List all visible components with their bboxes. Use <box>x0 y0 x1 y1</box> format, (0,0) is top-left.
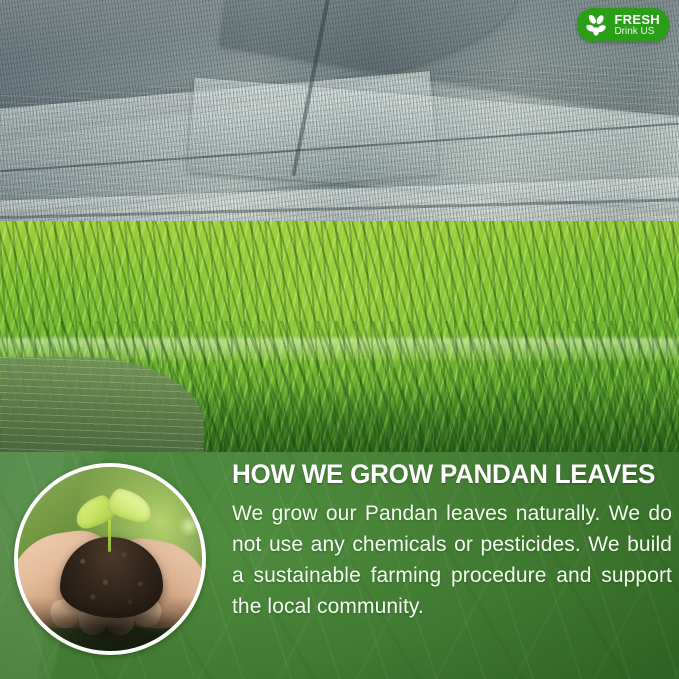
bokeh-light <box>178 515 200 537</box>
hands-holding-seedling-photo <box>14 463 206 655</box>
product-info-poster: FRESH Drink US HOW WE GROW PANDAN LEAVES… <box>0 0 679 679</box>
leaf-cluster-icon <box>583 12 609 38</box>
panel-body-text: We grow our Pandan leaves naturally. We … <box>232 499 672 622</box>
inset-bottom-shadow <box>18 596 202 651</box>
inset-photo-content <box>18 467 202 651</box>
brand-logo[interactable]: FRESH Drink US <box>577 8 669 42</box>
seedling-stem <box>108 519 111 552</box>
logo-title: FRESH <box>614 13 660 26</box>
greenhouse-pandan-field-photo <box>0 0 679 470</box>
logo-subtitle: Drink US <box>614 27 660 37</box>
page-title: HOW WE GROW PANDAN LEAVES <box>232 460 657 488</box>
logo-text-block: FRESH Drink US <box>614 13 660 37</box>
panel-content: HOW WE GROW PANDAN LEAVES We grow our Pa… <box>232 460 672 623</box>
